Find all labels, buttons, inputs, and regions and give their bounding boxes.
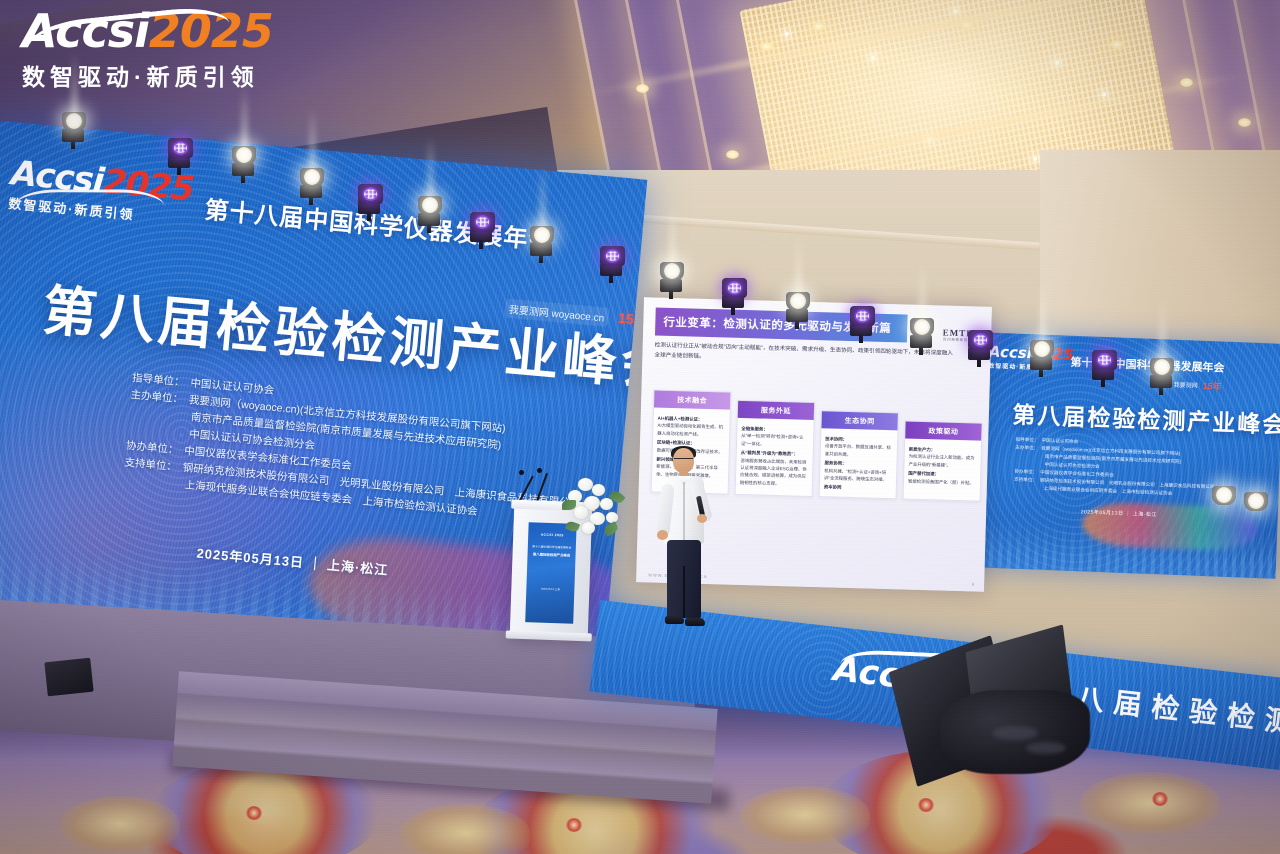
speaker-left-hand: [657, 530, 668, 540]
slide-column: 政策驱动 新质生产力： 为检测认证行业注入新动能、成为产业升级的“新基建”。 国…: [903, 421, 983, 502]
mic-capsule-right: [537, 468, 542, 473]
organizer-list: 指导单位： 中国认证认可协会 主办单位： 我要测网（woyaoce.cn)(北京…: [122, 370, 571, 528]
mic-capsule-left: [519, 470, 524, 475]
slide-column-body: 新质生产力： 为检测认证行业注入新动能、成为产业升级的“新基建”。 国产替代加速…: [904, 439, 981, 492]
accsi-swoosh-icon: [15, 189, 165, 224]
watermark-slogan: 数智驱动·新质引领: [22, 58, 273, 92]
side-brand-text: Accsi: [989, 343, 1033, 363]
podium-line-1: 第十八届中国科学仪器发展年会: [528, 544, 576, 550]
glasses-icon: [674, 458, 693, 462]
speaker-leg-gap: [683, 566, 685, 618]
slide-column-body: 技术协同： 设备开放平台、数据互通共享、标准共创共建。 服务协同： 机构共建、“…: [820, 428, 898, 498]
covered-equipment: [900, 630, 1100, 780]
slide-column-heading: 技术融合: [654, 391, 730, 410]
podium-line-2: 第八届检验检测产业峰会: [528, 551, 576, 558]
slide-column: 服务外延 全链条服务： 从“单一检测”转向“检测+咨询+认证”一体化。 从“裁判…: [735, 400, 816, 497]
side-partner-logos: 我要测网 15年: [1174, 378, 1222, 393]
event-date-location: 2025年05月13日 ｜ 上海·松江: [196, 543, 389, 579]
side-led-screen: Accsi2025 数智驱动·新质引领 第十八届中国科学仪器发展年会 我要测网 …: [971, 332, 1280, 579]
side-led-skyline: [971, 511, 1278, 579]
slide-column-heading: 服务外延: [738, 401, 814, 420]
speaker-right-shoe: [685, 618, 705, 626]
side-woyaoce-logo: 我要测网: [1174, 380, 1198, 390]
slide-column-heading: 生态协同: [821, 411, 897, 430]
conference-stage-photo: Accsi2025 数智驱动·新质引领 第十八届中国科学仪器发展年会 我要测网 …: [0, 0, 1280, 854]
podium-line-3: 2025.05.13 上海: [526, 586, 574, 592]
accsi-watermark: Accsi2025 数智驱动·新质引领: [22, 8, 273, 92]
slide-column-body: 全链条服务： 从“单一检测”转向“检测+咨询+认证”一体化。 从“裁判员”升级为…: [736, 418, 814, 493]
speaker-person: [655, 448, 715, 638]
stage-left-equipment: [44, 658, 93, 697]
podium-branding-panel: ACCSI 2025 第十八届中国科学仪器发展年会 第八届检验检测产业峰会 20…: [525, 522, 576, 624]
flower-arrangement: [560, 478, 626, 536]
slide-column-heading: 政策驱动: [905, 422, 981, 441]
speaker-left-shoe: [665, 616, 684, 624]
side-organizer-list: 指导单位：中国认证认可协会 主办单位：我要测网（woyaoce.cn)(北京信立…: [1014, 436, 1246, 501]
speaker-right-hand: [697, 514, 707, 523]
slide-page-number: 8: [972, 581, 974, 586]
screen-accsi-logo: Accsi2025 数智驱动·新质引领: [8, 156, 192, 228]
speaker-shirt-placket: [683, 482, 685, 540]
side-anniversary-logo: 15年: [1203, 379, 1223, 393]
slide-column: 生态协同 技术协同： 设备开放平台、数据互通共享、标准共创共建。 服务协同： 机…: [819, 410, 899, 499]
